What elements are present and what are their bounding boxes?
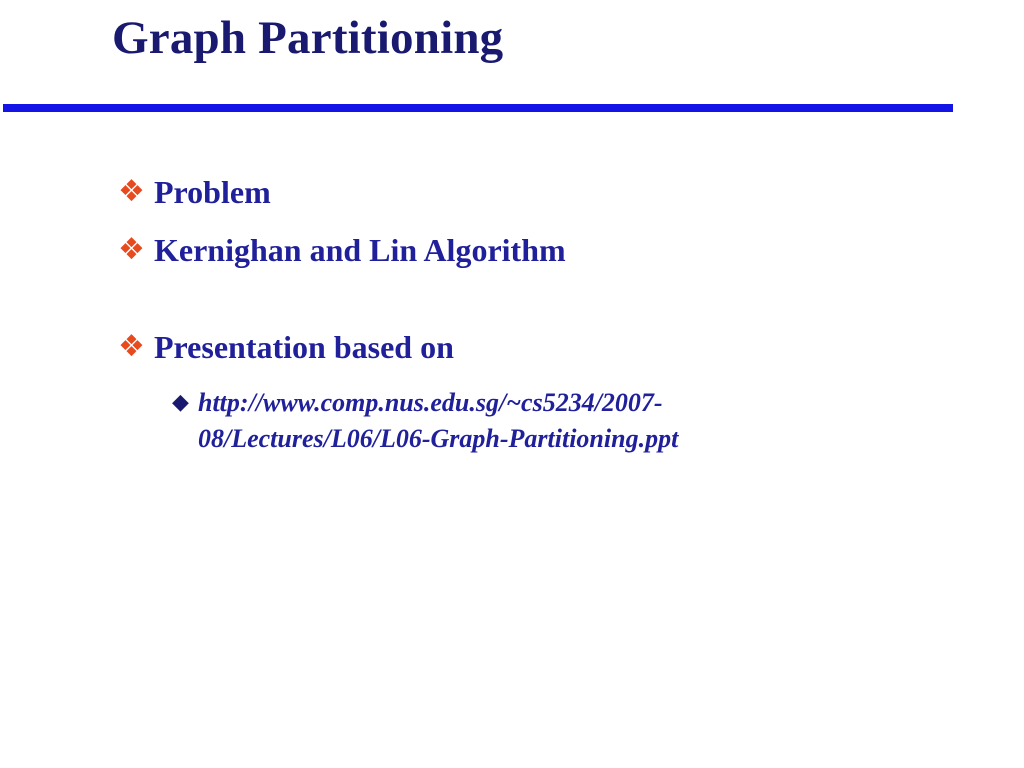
list-item-label: Kernighan and Lin Algorithm (154, 230, 1024, 270)
slide-canvas: Graph Partitioning ❖ Problem ❖ Kernighan… (0, 0, 1024, 768)
source-url-link[interactable]: http://www.comp.nus.edu.sg/~cs5234/2007-… (198, 385, 858, 457)
filled-diamond-bullet-icon: ◆ (172, 385, 198, 421)
title-divider-rule (3, 104, 953, 112)
diamond-cluster-bullet-icon: ❖ (118, 172, 154, 212)
bullet-list: ❖ Problem ❖ Kernighan and Lin Algorithm … (0, 172, 1024, 457)
list-item: ❖ Kernighan and Lin Algorithm (0, 230, 1024, 270)
page-title: Graph Partitioning (112, 12, 972, 65)
list-item-label: Presentation based on (154, 327, 1024, 367)
list-item: ❖ Presentation based on (0, 327, 1024, 367)
list-item: ❖ Problem (0, 172, 1024, 212)
diamond-cluster-bullet-icon: ❖ (118, 230, 154, 270)
list-item-sub: ◆ http://www.comp.nus.edu.sg/~cs5234/200… (0, 385, 1024, 457)
list-item-label: Problem (154, 172, 1024, 212)
diamond-cluster-bullet-icon: ❖ (118, 327, 154, 367)
